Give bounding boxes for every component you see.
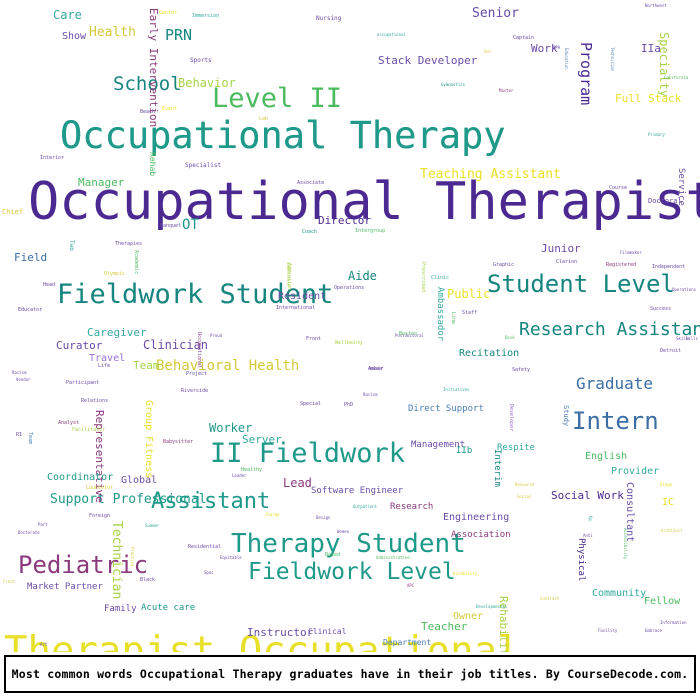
cloud-word: Design: [316, 516, 330, 520]
cloud-word: Line: [450, 312, 455, 324]
cloud-word: Leader: [232, 474, 246, 478]
cloud-word: Education: [564, 48, 568, 70]
cloud-word: Captain: [513, 36, 534, 41]
cloud-word: Interim: [492, 449, 501, 487]
cloud-word: Instructor: [247, 627, 313, 638]
cloud-word: Doctoral: [648, 198, 682, 205]
cloud-word: Charge: [265, 513, 279, 517]
cloud-word: Outpatient: [353, 505, 377, 509]
cloud-word: Racism: [12, 371, 26, 375]
cloud-word: Art: [40, 643, 47, 647]
cloud-word: Equitable: [220, 556, 242, 560]
cloud-word: Academic: [133, 250, 138, 274]
cloud-word: Wellbeing: [335, 341, 362, 346]
cloud-word: Operations: [334, 286, 364, 291]
cloud-word: Initiatives: [443, 388, 470, 392]
cloud-word: Prescribed: [420, 262, 425, 292]
cloud-word: Safety: [512, 368, 530, 373]
cloud-word: Department: [383, 639, 431, 647]
cloud-word: Association: [451, 531, 511, 540]
cloud-word: Research Assistant: [519, 321, 700, 339]
cloud-word: Therapies: [115, 242, 142, 247]
cloud-word: Care: [53, 9, 82, 21]
cloud-word: Banquet: [160, 224, 181, 229]
cloud-word: Proud: [210, 334, 222, 338]
cloud-word: Occupational Therapy: [60, 117, 506, 154]
cloud-word: International: [276, 306, 315, 311]
cloud-word: Relations: [81, 399, 108, 404]
cloud-word: Support Professional: [50, 493, 207, 506]
cloud-word: Social Work: [551, 490, 624, 501]
cloud-word: Ambassador: [435, 287, 444, 341]
cloud-word: Primary: [648, 133, 665, 137]
cloud-word: Behavior: [178, 77, 236, 89]
cloud-word: Black: [140, 578, 155, 583]
wordcloud-canvas: Occupational TherapistOccupational Thera…: [0, 0, 700, 652]
cloud-word: Counselor: [86, 486, 113, 491]
cloud-word: Course: [609, 186, 627, 191]
cloud-word: Acute care: [141, 604, 195, 613]
cloud-word: Community: [592, 589, 646, 599]
cloud-word: Occupational: [196, 332, 201, 368]
cloud-word: Resource: [515, 483, 534, 487]
cloud-word: Coordinator: [47, 473, 113, 483]
cloud-word: Social: [517, 495, 531, 499]
cloud-word: Set: [484, 50, 491, 54]
cloud-word: PRN: [165, 28, 192, 43]
cloud-word: Coach: [302, 230, 317, 235]
cloud-word: Caregiver: [87, 327, 147, 338]
cloud-word: Aide: [348, 270, 377, 282]
cloud-word: Interior: [40, 156, 64, 161]
cloud-word: APC: [407, 584, 414, 588]
cloud-word: English: [585, 452, 627, 462]
cloud-word: Lab: [259, 117, 268, 122]
cloud-word: Software Engineer: [311, 487, 403, 496]
cloud-word: Beach: [140, 110, 155, 115]
cloud-word: Group Fitness: [143, 400, 153, 478]
cloud-word: Graduate: [576, 376, 653, 392]
cloud-word: Filmmaker: [620, 251, 642, 255]
cloud-word: Facility: [598, 629, 617, 633]
cloud-word: Registered: [606, 263, 636, 268]
cloud-word: Associate: [297, 181, 324, 186]
cloud-word: Two: [68, 240, 74, 251]
cloud-word: Lead: [283, 477, 312, 489]
cloud-word: Operations: [672, 288, 696, 292]
cloud-word: Independent: [652, 265, 685, 270]
cloud-word: Project: [186, 372, 207, 377]
cloud-word: Teaching Assistant: [420, 168, 561, 181]
cloud-word: Substitute: [286, 262, 290, 286]
cloud-word: Pediatric: [18, 553, 148, 577]
cloud-word: Life: [98, 364, 110, 369]
cloud-word: Part: [38, 523, 48, 527]
cloud-word: Chief: [2, 209, 23, 216]
cloud-word: Public: [447, 288, 490, 300]
cloud-word: Global: [121, 476, 157, 486]
cloud-word: Head: [43, 283, 55, 288]
cloud-word: Behavioral Health: [156, 359, 299, 373]
cloud-word: Detroit: [660, 349, 681, 354]
cloud-word: Team: [27, 432, 32, 444]
cloud-word: Director: [318, 215, 371, 226]
cloud-word: Senior: [472, 7, 519, 20]
cloud-word: Physical: [576, 538, 585, 581]
cloud-word: Spec: [204, 571, 214, 575]
cloud-word: Participant: [66, 381, 99, 386]
cloud-word: Clinical: [308, 628, 347, 636]
cloud-word: Owner: [453, 612, 483, 622]
cloud-word: IIb: [456, 447, 472, 456]
cloud-word: Student Level: [487, 272, 675, 296]
cloud-word: Resident: [278, 292, 326, 302]
cloud-word: Special: [300, 402, 321, 407]
cloud-word: Doctorate: [18, 531, 40, 535]
cloud-word: Anti: [583, 534, 593, 538]
cloud-word: Clarion: [556, 260, 577, 265]
cloud-word: Developer: [508, 404, 513, 431]
cloud-word: Vendor: [369, 367, 383, 371]
cloud-word: Accessibility: [623, 528, 627, 559]
cloud-word: Desk: [505, 336, 515, 340]
cloud-word: Nursing: [316, 16, 341, 22]
cloud-word: OT: [182, 218, 199, 232]
wordcloud-page: Occupational TherapistOccupational Thera…: [0, 0, 700, 700]
cloud-word: Staff: [462, 311, 477, 316]
cloud-word: Fellow: [644, 597, 680, 607]
cloud-word: Provider: [611, 467, 659, 477]
cloud-word: Riverside: [181, 389, 208, 394]
cloud-word: Administrative: [376, 556, 410, 560]
cloud-word: Center: [159, 11, 177, 16]
cloud-word: Sports: [190, 58, 212, 64]
cloud-word: Stack Developer: [378, 55, 477, 66]
cloud-word: Fieldwork Level: [248, 561, 456, 584]
cloud-word: Full Stack: [615, 93, 681, 104]
cloud-word: Residential: [188, 545, 221, 550]
cloud-word: Summer: [145, 524, 159, 528]
caption-bar: Most common words Occupational Therapy g…: [4, 655, 696, 693]
cloud-word: Junior: [541, 243, 581, 254]
cloud-word: Front: [306, 337, 321, 342]
cloud-word: Northwest: [645, 4, 667, 8]
cloud-word: Program: [578, 42, 593, 105]
cloud-word: Gymnastics: [441, 83, 465, 87]
cloud-word: Embrace: [645, 629, 662, 633]
cloud-word: Teacher: [421, 621, 467, 632]
cloud-word: II Fieldwork: [210, 440, 405, 467]
cloud-word: Market Partner: [27, 583, 103, 592]
cloud-word: Engineering: [443, 513, 509, 523]
cloud-word: Intergroup: [355, 229, 385, 234]
cloud-word: Master: [499, 89, 513, 93]
cloud-word: Show: [62, 32, 86, 42]
cloud-word: Specialist: [185, 163, 221, 169]
cloud-word: Women: [337, 530, 349, 534]
cloud-word: PhD: [344, 403, 353, 408]
cloud-word: Technician: [110, 521, 123, 599]
cloud-word: IIa: [641, 43, 661, 54]
cloud-word: Immersion: [192, 14, 219, 19]
cloud-word: RI: [16, 433, 22, 438]
cloud-word: Graphic: [493, 263, 514, 268]
cloud-word: Team: [133, 360, 160, 371]
cloud-word: Stage: [660, 483, 672, 487]
cloud-word: Boston: [399, 332, 417, 337]
cloud-word: Babysitter: [163, 440, 193, 445]
cloud-word: IC: [662, 498, 674, 508]
cloud-word: Facilitator: [72, 428, 105, 433]
cloud-word: Front: [3, 580, 15, 584]
cloud-word: occupational: [377, 33, 406, 37]
cloud-word: Hills: [686, 337, 698, 341]
cloud-word: Contract: [540, 597, 559, 601]
cloud-word: Architect: [661, 529, 683, 533]
cloud-word: Vendor: [16, 378, 30, 382]
cloud-word: Therapy Student: [231, 531, 466, 557]
cloud-word: Practice: [130, 547, 134, 566]
cloud-word: Family: [104, 605, 137, 614]
cloud-word: Foreign: [89, 514, 110, 519]
cloud-word: Technician: [610, 47, 614, 71]
cloud-word: Clinic: [431, 276, 449, 281]
cloud-word: RPA: [553, 46, 560, 50]
cloud-word: Research: [390, 503, 433, 512]
cloud-word: Study: [562, 405, 569, 426]
cloud-word: Information: [660, 621, 687, 625]
cloud-word: Server: [242, 434, 282, 445]
cloud-word: Analyst: [58, 421, 79, 426]
cloud-word: Event: [162, 107, 177, 112]
cloud-word: Respite: [497, 444, 535, 453]
cloud-word: Up: [588, 516, 592, 521]
cloud-word: Based: [325, 553, 340, 558]
cloud-word: Intern: [572, 409, 659, 433]
cloud-word: Recitation: [459, 349, 519, 359]
cloud-word: Developmental: [476, 605, 507, 609]
cloud-word: Rehab: [148, 152, 156, 176]
cloud-word: Health: [89, 26, 136, 39]
cloud-word: Direct Support: [408, 405, 484, 414]
cloud-word: California: [664, 76, 688, 80]
cloud-word: Manager: [78, 177, 124, 188]
cloud-word: Curator: [56, 340, 102, 351]
cloud-word: Disability: [453, 572, 477, 576]
caption-text: Most common words Occupational Therapy g…: [12, 667, 689, 681]
cloud-word: Field: [14, 252, 47, 263]
cloud-word: Educator: [18, 308, 42, 313]
cloud-word: Olympic: [104, 272, 125, 277]
cloud-word: Success: [650, 307, 671, 312]
cloud-word: Racism: [363, 393, 377, 397]
